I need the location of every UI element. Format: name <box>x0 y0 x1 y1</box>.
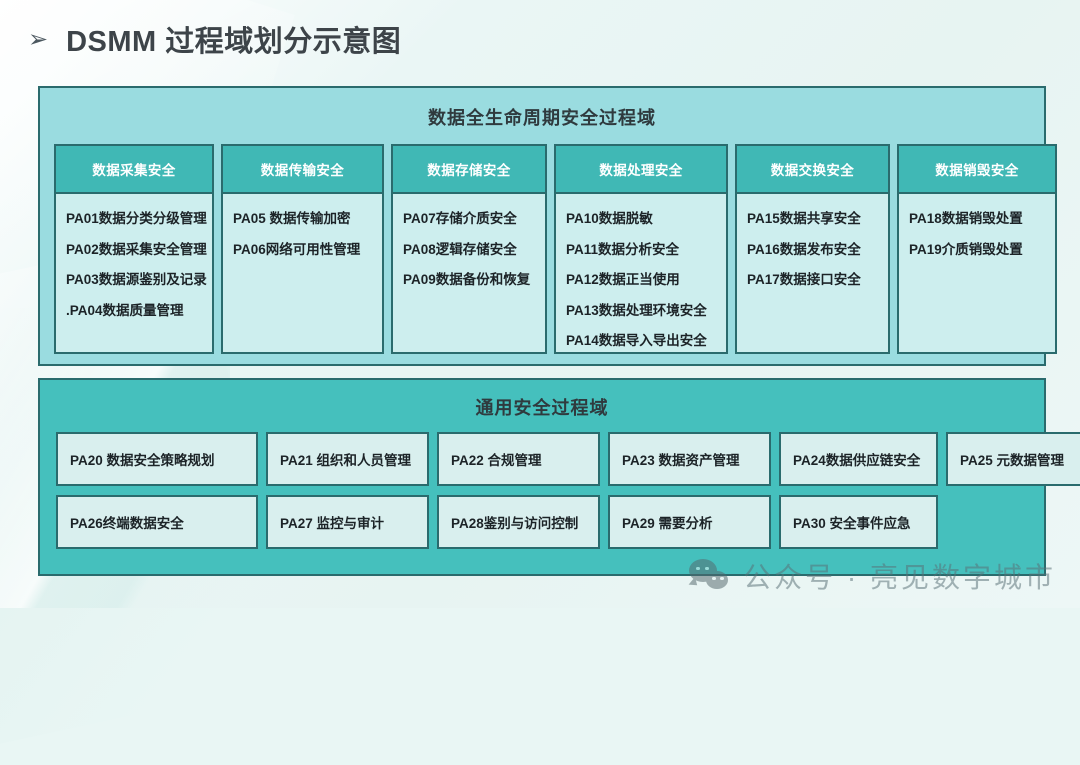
lifecycle-column-title: 数据存储安全 <box>393 146 545 194</box>
lifecycle-column-title: 数据传输安全 <box>223 146 382 194</box>
bullet-arrow-icon: ➢ <box>28 28 48 52</box>
lifecycle-column-title: 数据交换安全 <box>737 146 888 194</box>
general-box-pa25[interactable]: PA25 元数据管理 <box>946 432 1080 486</box>
lifecycle-column-data-transmission[interactable]: 数据传输安全 PA05 数据传输加密 PA06网络可用性管理 <box>221 144 384 354</box>
process-area-item: PA12数据正当使用 <box>566 273 726 287</box>
process-area-item: PA03数据源鉴别及记录 <box>66 273 212 287</box>
process-area-item: PA06网络可用性管理 <box>233 243 382 257</box>
lifecycle-column-data-collection[interactable]: 数据采集安全 PA01数据分类分级管理 PA02数据采集安全管理 PA03数据源… <box>54 144 214 354</box>
lifecycle-process-domain-panel: 数据全生命周期安全过程域 数据采集安全 PA01数据分类分级管理 PA02数据采… <box>38 86 1046 366</box>
general-process-domain-panel: 通用安全过程域 PA20 数据安全策略规划 PA21 组织和人员管理 PA22 … <box>38 378 1046 576</box>
general-box-pa20[interactable]: PA20 数据安全策略规划 <box>56 432 258 486</box>
process-area-item: PA16数据发布安全 <box>747 243 888 257</box>
process-area-item: PA19介质销毁处置 <box>909 243 1055 257</box>
process-area-item: PA01数据分类分级管理 <box>66 212 212 226</box>
general-box-pa26[interactable]: PA26终端数据安全 <box>56 495 258 549</box>
process-area-item: PA13数据处理环境安全 <box>566 304 726 318</box>
general-box-pa29[interactable]: PA29 需要分析 <box>608 495 771 549</box>
general-box-pa22[interactable]: PA22 合规管理 <box>437 432 600 486</box>
general-box-pa28[interactable]: PA28鉴别与访问控制 <box>437 495 600 549</box>
process-area-item: PA14数据导入导出安全 <box>566 334 726 348</box>
process-area-item: .PA04数据质量管理 <box>66 304 212 318</box>
lifecycle-column-data-exchange[interactable]: 数据交换安全 PA15数据共享安全 PA16数据发布安全 PA17数据接口安全 <box>735 144 890 354</box>
general-box-pa30[interactable]: PA30 安全事件应急 <box>779 495 938 549</box>
lifecycle-columns: 数据采集安全 PA01数据分类分级管理 PA02数据采集安全管理 PA03数据源… <box>54 144 1030 354</box>
lifecycle-column-items: PA18数据销毁处置 PA19介质销毁处置 <box>899 194 1055 352</box>
general-panel-heading: 通用安全过程域 <box>40 380 1044 420</box>
lifecycle-panel-heading: 数据全生命周期安全过程域 <box>40 88 1044 130</box>
process-area-item: PA02数据采集安全管理 <box>66 243 212 257</box>
lifecycle-column-items: PA05 数据传输加密 PA06网络可用性管理 <box>223 194 382 352</box>
general-row-first: PA20 数据安全策略规划 PA21 组织和人员管理 PA22 合规管理 PA2… <box>56 432 1028 486</box>
lifecycle-column-items: PA07存储介质安全 PA08逻辑存储安全 PA09数据备份和恢复 <box>393 194 545 352</box>
general-box-pa23[interactable]: PA23 数据资产管理 <box>608 432 771 486</box>
general-box-pa24[interactable]: PA24数据供应链安全 <box>779 432 938 486</box>
process-area-item: PA07存储介质安全 <box>403 212 545 226</box>
general-row-second: PA26终端数据安全 PA27 监控与审计 PA28鉴别与访问控制 PA29 需… <box>56 495 1028 549</box>
general-box-pa21[interactable]: PA21 组织和人员管理 <box>266 432 429 486</box>
process-area-item: PA18数据销毁处置 <box>909 212 1055 226</box>
lifecycle-column-items: PA15数据共享安全 PA16数据发布安全 PA17数据接口安全 <box>737 194 888 352</box>
process-area-item: PA11数据分析安全 <box>566 243 726 257</box>
process-area-item: PA05 数据传输加密 <box>233 212 382 226</box>
lifecycle-column-data-storage[interactable]: 数据存储安全 PA07存储介质安全 PA08逻辑存储安全 PA09数据备份和恢复 <box>391 144 547 354</box>
lifecycle-column-items: PA01数据分类分级管理 PA02数据采集安全管理 PA03数据源鉴别及记录 .… <box>56 194 212 352</box>
process-area-item: PA10数据脱敏 <box>566 212 726 226</box>
page-title: DSMM 过程域划分示意图 <box>66 18 401 60</box>
page-title-row: ➢ DSMM 过程域划分示意图 <box>28 18 401 60</box>
process-area-item: PA17数据接口安全 <box>747 273 888 287</box>
general-rows: PA20 数据安全策略规划 PA21 组织和人员管理 PA22 合规管理 PA2… <box>56 432 1028 558</box>
lifecycle-column-data-destruction[interactable]: 数据销毁安全 PA18数据销毁处置 PA19介质销毁处置 <box>897 144 1057 354</box>
lifecycle-column-title: 数据处理安全 <box>556 146 726 194</box>
process-area-item: PA09数据备份和恢复 <box>403 273 545 287</box>
lifecycle-column-items: PA10数据脱敏 PA11数据分析安全 PA12数据正当使用 PA13数据处理环… <box>556 194 726 354</box>
lifecycle-column-title: 数据销毁安全 <box>899 146 1055 194</box>
lifecycle-column-data-processing[interactable]: 数据处理安全 PA10数据脱敏 PA11数据分析安全 PA12数据正当使用 PA… <box>554 144 728 354</box>
process-area-item: PA08逻辑存储安全 <box>403 243 545 257</box>
process-area-item: PA15数据共享安全 <box>747 212 888 226</box>
lifecycle-column-title: 数据采集安全 <box>56 146 212 194</box>
general-box-pa27[interactable]: PA27 监控与审计 <box>266 495 429 549</box>
